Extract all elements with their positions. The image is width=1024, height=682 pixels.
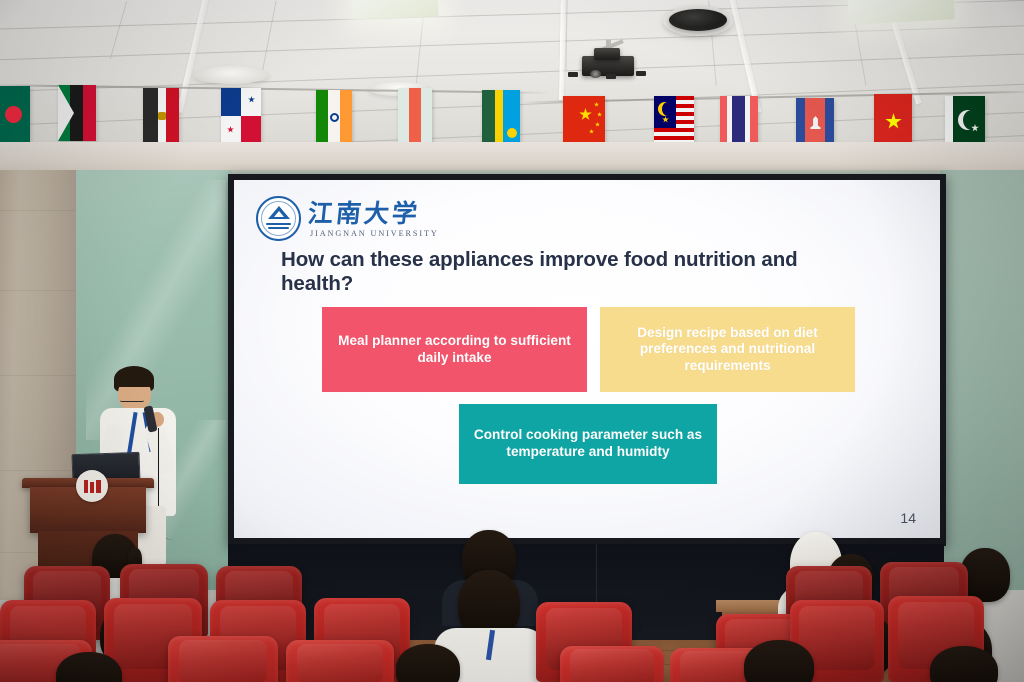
lecture-hall-photo: 江南大学 JIANGNAN UNIVERSITY How can these a…: [0, 0, 1024, 682]
slide-page-number: 14: [900, 510, 916, 526]
box-design-recipe-text: Design recipe based on diet preferences …: [610, 325, 845, 375]
university-name-cn: 江南大学: [307, 201, 422, 226]
box-meal-planner: Meal planner according to sufficient dai…: [322, 307, 587, 392]
wall-panel-mint-right: [940, 170, 1024, 590]
ceiling-mounted-projector: [560, 44, 670, 92]
projection-screen-frame: 江南大学 JIANGNAN UNIVERSITY How can these a…: [228, 174, 946, 546]
box-design-recipe: Design recipe based on diet preferences …: [600, 307, 855, 392]
university-logo-lockup: 江南大学 JIANGNAN UNIVERSITY: [256, 196, 420, 241]
flag-italy: [398, 88, 432, 144]
flag-rwanda: [482, 90, 520, 146]
audience-member-front-2: [396, 644, 460, 682]
box-control-cooking-text: Control cooking parameter such as temper…: [469, 427, 707, 460]
university-name-en: JIANGNAN UNIVERSITY: [310, 229, 439, 238]
presenter-glasses-icon: [120, 394, 144, 402]
box-meal-planner-text: Meal planner according to sufficient dai…: [332, 333, 577, 366]
ceiling-light-panel-2: [847, 0, 955, 25]
slide-title: How can these appliances improve food nu…: [281, 248, 853, 296]
podium-emblem: [76, 470, 108, 502]
audience-member-front-3: [744, 640, 814, 682]
flag-sudan: [58, 85, 96, 141]
ceiling-speaker: [669, 9, 727, 31]
ceiling-vent: [193, 66, 269, 84]
seat: [286, 640, 394, 682]
seat: [560, 646, 664, 682]
flag-bangladesh: [0, 86, 30, 142]
projection-screen: 江南大学 JIANGNAN UNIVERSITY How can these a…: [234, 180, 940, 538]
flag-panama: [221, 88, 261, 144]
flag-pakistan: [945, 96, 985, 148]
jiangnan-seal-icon: [256, 196, 301, 241]
box-control-cooking: Control cooking parameter such as temper…: [459, 404, 717, 484]
flag-india: [316, 90, 352, 146]
flag-egypt: [143, 88, 179, 144]
ceiling-light-panel-1: [351, 0, 438, 19]
seat: [168, 636, 278, 682]
podium-emblem-mark: [84, 480, 101, 493]
